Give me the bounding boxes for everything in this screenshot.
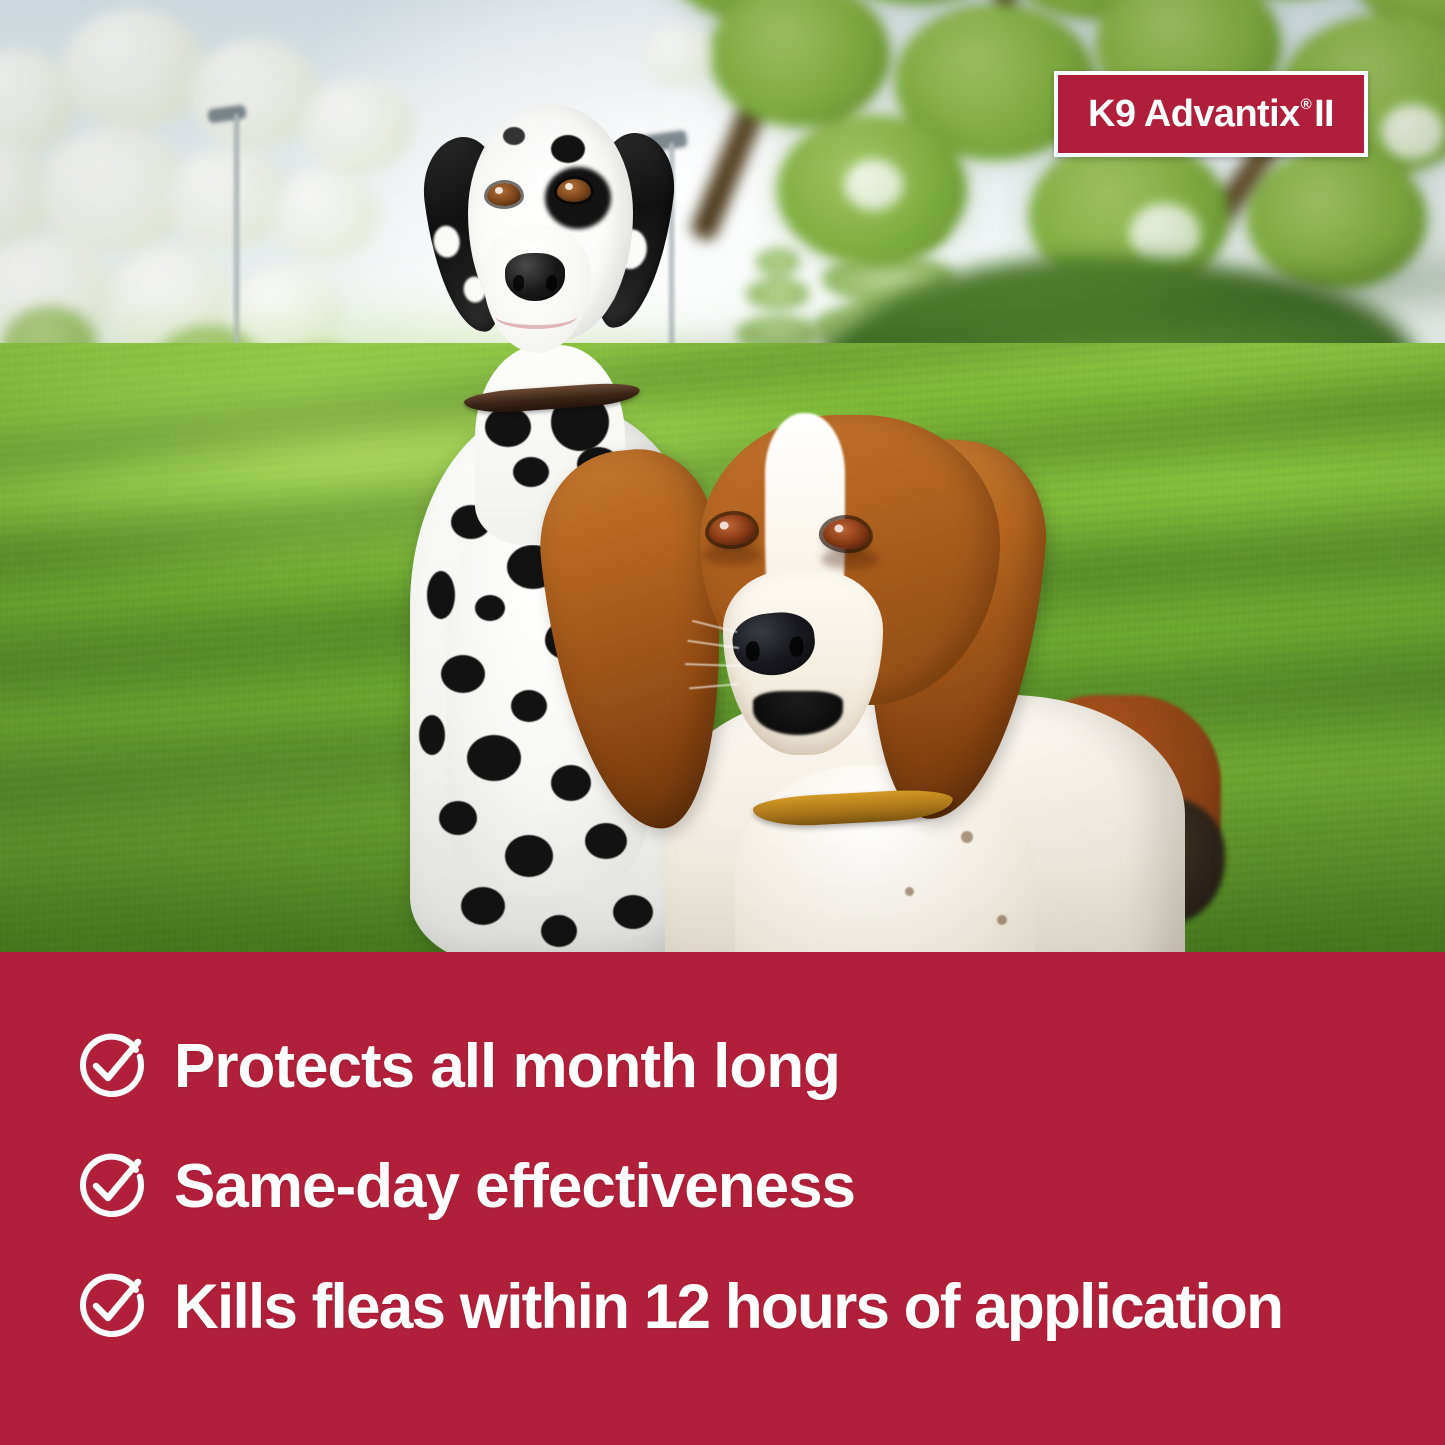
claim-text: Same-day effectiveness (174, 1156, 855, 1218)
claim-text: Kills fleas within 12 hours of applicati… (174, 1276, 1282, 1339)
registered-trademark-icon: ® (1301, 97, 1311, 112)
claims-band: Protects all month long Same-day effecti… (0, 952, 1445, 1445)
claim-row-3: Kills fleas within 12 hours of applicati… (0, 1246, 1445, 1368)
brand-logo-name: K9 Advantix (1088, 95, 1300, 133)
claim-text: Protects all month long (174, 1036, 840, 1098)
check-circle-icon (76, 1151, 148, 1223)
dalmatian-left-eye (487, 183, 521, 206)
basset-hound-dog (605, 395, 1225, 952)
check-circle-icon (76, 1271, 148, 1343)
check-circle-icon (76, 1031, 148, 1103)
brand-logo-suffix: II (1314, 95, 1334, 133)
brand-logo-text: K9 Advantix®II (1088, 95, 1334, 133)
brand-logo-badge: K9 Advantix®II (1054, 71, 1368, 157)
product-banner: K9 Advantix®II Protects all month long S… (0, 0, 1445, 1445)
dalmatian-mouth (495, 303, 577, 329)
dalmatian-right-eye (557, 179, 591, 202)
claim-row-1: Protects all month long (0, 1006, 1445, 1128)
claim-row-2: Same-day effectiveness (0, 1126, 1445, 1248)
